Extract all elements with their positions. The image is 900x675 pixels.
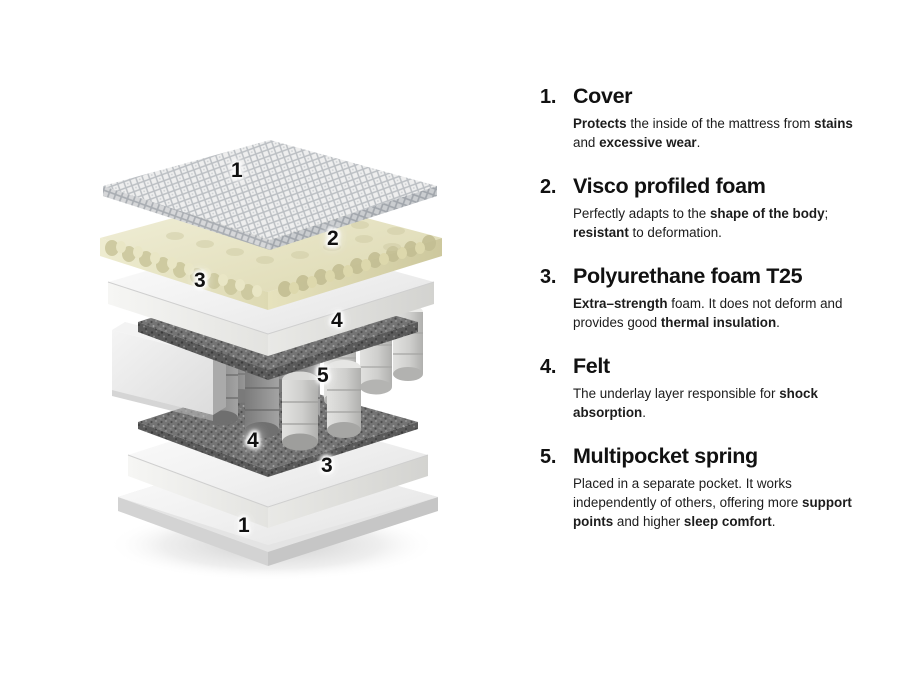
callout-2-visco-foam: 2 [327,228,339,249]
legend-item-cover: 1. Cover Protects the inside of the matt… [540,84,890,152]
callout-4-felt-top: 4 [331,310,343,331]
mattress-exploded-diagram: 1 2 3 4 5 4 3 1 [0,0,520,675]
callout-1-cover-bottom: 1 [238,515,250,536]
legend-number-5: 5. [540,446,573,469]
legend-head: 3. Polyurethane foam T25 [540,264,890,289]
legend-body-4: The underlay layer responsible for shock… [573,384,878,422]
legend-title-1: Cover [573,84,632,108]
legend-number-3: 3. [540,266,573,289]
legend-body-3: Extra–strength foam. It does not deform … [573,294,878,332]
legend-head: 1. Cover [540,84,890,109]
legend-title-4: Felt [573,354,610,378]
mattress-diagram-svg [0,0,520,675]
legend-number-4: 4. [540,356,573,379]
legend-title-5: Multipocket spring [573,444,758,468]
callout-3-pu-foam-bottom: 3 [321,455,333,476]
legend-body-5: Placed in a separate pocket. It works in… [573,474,878,531]
legend-body-1: Protects the inside of the mattress from… [573,114,878,152]
layer-legend-list: 1. Cover Protects the inside of the matt… [540,84,890,553]
legend-number-1: 1. [540,86,573,109]
legend-number-2: 2. [540,176,573,199]
legend-title-2: Visco profiled foam [573,174,765,198]
legend-head: 5. Multipocket spring [540,444,890,469]
legend-head: 4. Felt [540,354,890,379]
legend-body-2: Perfectly adapts to the shape of the bod… [573,204,878,242]
callout-3-pu-foam-top: 3 [194,270,206,291]
legend-item-visco-profiled-foam: 2. Visco profiled foam Perfectly adapts … [540,174,890,242]
legend-title-3: Polyurethane foam T25 [573,264,802,288]
legend-head: 2. Visco profiled foam [540,174,890,199]
callout-1-cover-top: 1 [231,160,243,181]
legend-item-felt: 4. Felt The underlay layer responsible f… [540,354,890,422]
callout-5-multipocket: 5 [317,365,329,386]
callout-4-felt-bottom: 4 [247,430,259,451]
legend-item-multipocket-spring: 5. Multipocket spring Placed in a separa… [540,444,890,531]
legend-item-polyurethane-foam-t25: 3. Polyurethane foam T25 Extra–strength … [540,264,890,332]
